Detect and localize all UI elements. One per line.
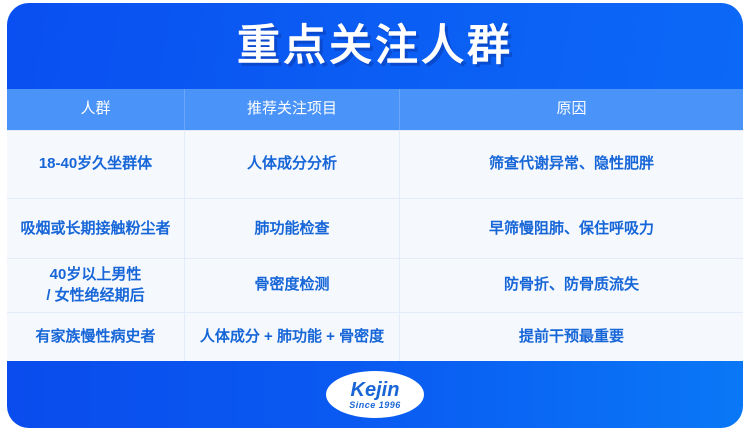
title-banner: 重点关注人群	[7, 3, 743, 89]
cell-group-line2: / 女性绝经期后	[46, 285, 144, 307]
cell-reason: 筛查代谢异常、隐性肥胖	[400, 131, 743, 198]
column-header-item: 推荐关注项目	[185, 89, 400, 130]
table-row: 40岁以上男性 / 女性绝经期后 骨密度检测 防骨折、防骨质流失	[7, 258, 743, 311]
table-row: 18-40岁久坐群体 人体成分分析 筛查代谢异常、隐性肥胖	[7, 130, 743, 198]
cell-group: 18-40岁久坐群体	[7, 131, 185, 198]
column-header-reason: 原因	[400, 89, 743, 130]
table-row: 吸烟或长期接触粉尘者 肺功能检查 早筛慢阻肺、保住呼吸力	[7, 198, 743, 258]
cell-item: 人体成分分析	[185, 131, 400, 198]
cell-reason: 防骨折、防骨质流失	[400, 259, 743, 311]
focus-groups-table: 人群 推荐关注项目 原因 18-40岁久坐群体 人体成分分析 筛查代谢异常、隐性…	[7, 89, 743, 361]
cell-group: 40岁以上男性 / 女性绝经期后	[7, 259, 185, 311]
cell-group-stack: 40岁以上男性 / 女性绝经期后	[46, 264, 144, 308]
cell-item: 骨密度检测	[185, 259, 400, 311]
table-row: 有家族慢性病史者 人体成分 + 肺功能 + 骨密度 提前干预最重要	[7, 312, 743, 361]
brand-since: Since 1996	[349, 401, 401, 410]
footer-bar: Kejin Since 1996	[7, 361, 743, 428]
info-card: 重点关注人群 人群 推荐关注项目 原因 18-40岁久坐群体 人体成分分析 筛查…	[7, 3, 743, 428]
cell-item: 肺功能检查	[185, 199, 400, 258]
cell-item: 人体成分 + 肺功能 + 骨密度	[185, 313, 400, 361]
page-title: 重点关注人群	[237, 25, 513, 68]
cell-reason: 提前干预最重要	[400, 313, 743, 361]
cell-group: 吸烟或长期接触粉尘者	[7, 199, 185, 258]
brand-logo: Kejin Since 1996	[326, 371, 424, 418]
cell-reason: 早筛慢阻肺、保住呼吸力	[400, 199, 743, 258]
cell-group-line1: 40岁以上男性	[50, 264, 142, 286]
table-header-row: 人群 推荐关注项目 原因	[7, 89, 743, 130]
column-header-group: 人群	[7, 89, 185, 130]
cell-group: 有家族慢性病史者	[7, 313, 185, 361]
brand-name: Kejin	[351, 380, 400, 400]
